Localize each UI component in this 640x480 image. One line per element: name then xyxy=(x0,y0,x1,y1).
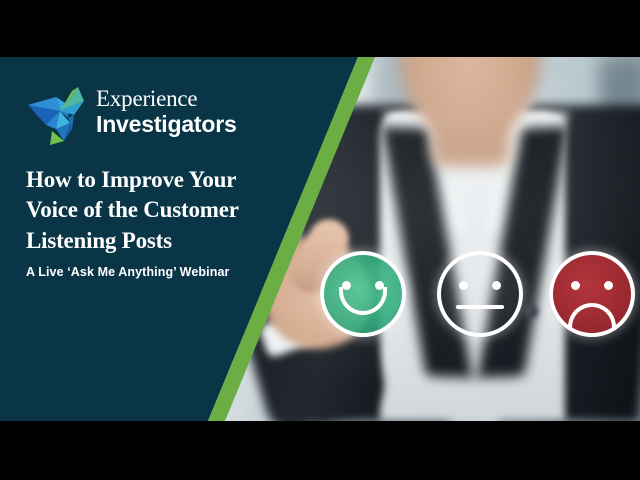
neutral-face-icon xyxy=(437,251,523,337)
brand-name-line2: Investigators xyxy=(96,113,276,136)
happy-face-icon xyxy=(320,251,406,337)
headline-line-3: Listening Posts xyxy=(26,226,316,256)
title-content: Experience Investigators How to Improve … xyxy=(0,57,330,421)
neutral-face-eye-left xyxy=(459,281,468,290)
brand-name: Experience Investigators xyxy=(96,87,276,136)
brand-name-line1: Experience xyxy=(96,87,276,110)
neutral-face-mouth xyxy=(456,305,504,309)
brand-logo: Experience Investigators xyxy=(26,83,266,149)
headline-line-2: Voice of the Customer xyxy=(26,195,316,225)
sad-face-eye-right xyxy=(604,281,613,290)
headline-line-1: How to Improve Your xyxy=(26,165,316,195)
photo-suit-button xyxy=(525,305,538,318)
sad-face-eye-left xyxy=(571,281,580,290)
letterbox-top xyxy=(0,0,640,57)
neutral-face-eye-right xyxy=(492,281,501,290)
webinar-title-slide: Experience Investigators How to Improve … xyxy=(0,57,640,421)
sad-face-icon xyxy=(549,251,635,337)
webinar-subtitle: A Live ‘Ask Me Anything’ Webinar xyxy=(26,265,306,279)
video-frame: Experience Investigators How to Improve … xyxy=(0,0,640,480)
webinar-headline: How to Improve Your Voice of the Custome… xyxy=(26,165,316,256)
origami-bird-logo-icon xyxy=(26,85,90,147)
letterbox-bottom xyxy=(0,421,640,480)
neutral-face-ring xyxy=(437,251,523,337)
